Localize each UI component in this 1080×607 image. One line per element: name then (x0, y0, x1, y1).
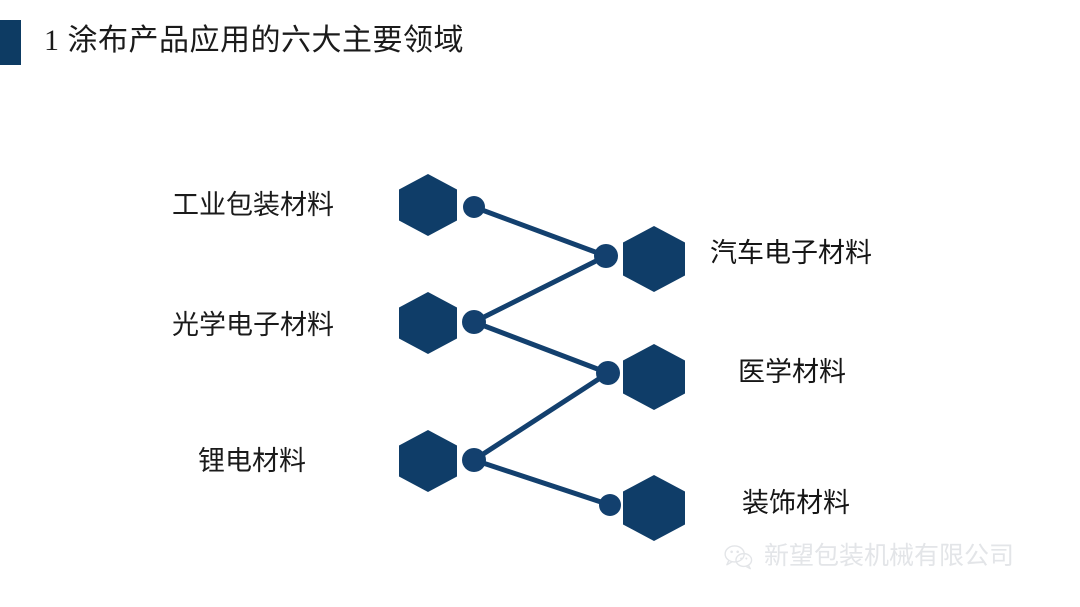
edge-left-2-to-right-1 (474, 256, 606, 322)
edge-left-3-to-right-2 (474, 373, 608, 460)
node-label-left-2: 光学电子材料 (172, 308, 334, 342)
edge-left-3-to-right-3 (474, 460, 610, 505)
node-dot-left-1 (463, 196, 485, 218)
node-dot-right-3 (599, 494, 621, 516)
hexagon-left-2 (399, 292, 457, 354)
node-dot-right-1 (594, 244, 618, 268)
node-dot-left-3 (462, 448, 486, 472)
hexagon-left-3 (399, 430, 457, 492)
node-label-left-3: 锂电材料 (198, 444, 306, 478)
edge-left-2-to-right-2 (474, 322, 608, 373)
watermark: 新望包装机械有限公司 (724, 542, 1014, 572)
hexagon-left-1 (399, 174, 457, 236)
slide-canvas: 1 涂布产品应用的六大主要领域 工业包装材料 光学电子材料 锂电材料 汽车电子材… (0, 0, 1080, 607)
hexagon-right-3 (623, 475, 685, 541)
diagram-edges (0, 0, 1080, 607)
six-domains-diagram: 工业包装材料 光学电子材料 锂电材料 汽车电子材料 医学材料 装饰材料 (0, 0, 1080, 607)
hexagon-right-2 (623, 344, 685, 410)
hexagon-right-1 (623, 226, 685, 292)
watermark-text: 新望包装机械有限公司 (764, 542, 1014, 572)
node-label-right-1: 汽车电子材料 (710, 236, 872, 270)
node-label-left-1: 工业包装材料 (172, 188, 334, 222)
edge-left-1-to-right-1 (474, 207, 606, 256)
node-label-right-3: 装饰材料 (742, 486, 850, 520)
node-label-right-2: 医学材料 (738, 355, 846, 389)
node-dot-left-2 (462, 310, 486, 334)
wechat-icon (724, 544, 754, 570)
node-dot-right-2 (596, 361, 620, 385)
